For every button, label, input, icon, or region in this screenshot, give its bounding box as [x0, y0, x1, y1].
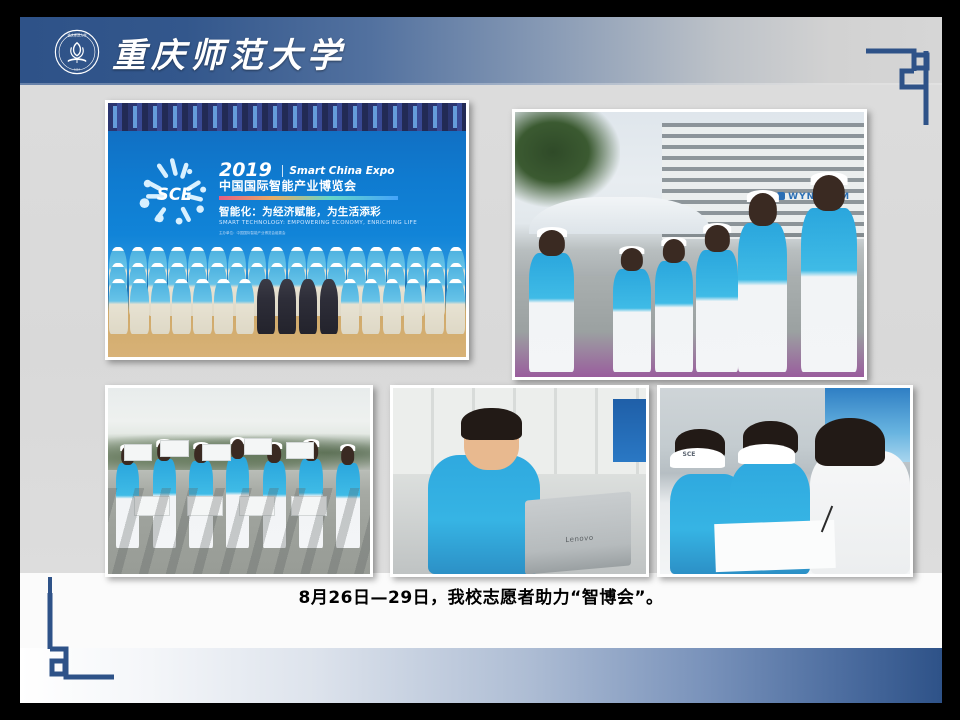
volunteer-figure	[801, 208, 857, 372]
crowd-person	[193, 279, 212, 334]
crowd-person	[383, 279, 402, 334]
laptop-brand-label: Lenovo	[565, 533, 593, 543]
head-shape	[813, 175, 845, 211]
volunteer-figure	[696, 250, 738, 372]
held-sign	[160, 440, 188, 457]
held-sign	[202, 444, 230, 461]
presentation-slide: 重庆师范大学 1954 重庆师范大学	[20, 17, 942, 703]
visor-brand-text: SCE	[683, 451, 696, 458]
volunteer-line	[515, 181, 864, 372]
head-shape	[705, 225, 729, 252]
university-emblem-icon: 重庆师范大学 1954	[54, 29, 100, 75]
head-shape	[663, 239, 685, 263]
crowd-person	[362, 279, 381, 334]
crowd-person	[404, 279, 423, 334]
sce-visor-icon	[738, 444, 796, 464]
crowd-person	[425, 279, 444, 334]
held-sign	[124, 444, 152, 461]
svg-text:SCE: SCE	[157, 185, 193, 204]
svg-text:1954: 1954	[74, 68, 80, 71]
crowd-person	[257, 279, 276, 334]
slide-caption: 8月26日—29日，我校志愿者助力“智博会”。	[20, 583, 942, 608]
held-sign	[244, 438, 272, 455]
crowd-person	[214, 279, 233, 334]
expo-fine-print: 主办单位：中国国际智能产业博览会组委会	[219, 231, 448, 236]
laptop-device: Lenovo	[525, 491, 631, 574]
expo-slogan-cn: 智能化：为经济赋能，为生活添彩	[219, 204, 448, 219]
volunteer-figure	[529, 253, 574, 371]
crowd-person	[341, 279, 360, 334]
crowd-person	[236, 279, 255, 334]
expo-volunteer-crowd	[108, 245, 466, 357]
stage-lamps	[108, 106, 466, 129]
expo-year: 2019	[219, 161, 272, 180]
crowd-row-front	[108, 279, 466, 348]
crowd-person	[172, 279, 191, 334]
expo-banner-text: 2019 Smart China Expo 中国国际智能产业博览会 智能化：为经…	[219, 161, 448, 235]
crowd-person	[299, 279, 318, 334]
crowd-person	[151, 279, 170, 334]
crowd-person	[320, 279, 339, 334]
volunteer-torso	[428, 455, 539, 574]
head-shape	[621, 248, 643, 271]
ground-shadows	[108, 488, 370, 574]
crowd-person	[446, 279, 465, 334]
slide-footer	[20, 648, 942, 703]
expo-title-en: Smart China Expo	[282, 165, 394, 177]
university-name-title: 重庆师范大学	[112, 24, 346, 80]
expo-color-bar	[219, 196, 398, 200]
paper-sheet	[714, 520, 836, 573]
head-shape	[341, 446, 355, 465]
volunteer-hair	[461, 408, 522, 440]
crowd-person	[278, 279, 297, 334]
blue-booth-panel	[613, 399, 646, 462]
slide-header: 重庆师范大学 1954 重庆师范大学	[20, 17, 942, 85]
expo-slogan-en: SMART TECHNOLOGY: EMPOWERING ECONOMY, EN…	[219, 220, 448, 226]
volunteer-figure	[738, 223, 787, 372]
volunteer-figure	[655, 261, 693, 372]
photo-expo-group: SCE 2019 Smart China Expo 中国国际智能产业博览会 智能…	[105, 100, 469, 360]
sce-starburst-logo-icon: SCE	[137, 156, 212, 232]
held-sign	[286, 442, 314, 459]
photo-writing-volunteers: SCE	[657, 385, 913, 577]
crowd-person	[130, 279, 149, 334]
photo-laptop-volunteer: Lenovo	[390, 385, 649, 577]
svg-text:重庆师范大学: 重庆师范大学	[67, 32, 87, 37]
volunteer-figure	[613, 269, 651, 372]
crowd-person	[109, 279, 128, 334]
head-shape	[749, 193, 777, 226]
sce-visor-icon	[670, 448, 725, 468]
head-shape	[538, 230, 564, 256]
volunteer-hair	[815, 418, 885, 466]
slide-frame: 重庆师范大学 1954 重庆师范大学	[0, 0, 960, 720]
photo-plaza-signs	[105, 385, 373, 577]
expo-title-cn: 中国国际智能产业博览会	[219, 180, 448, 193]
head-shape	[231, 439, 245, 459]
photo-volunteers-lineup: WYNDHAM	[512, 109, 867, 380]
